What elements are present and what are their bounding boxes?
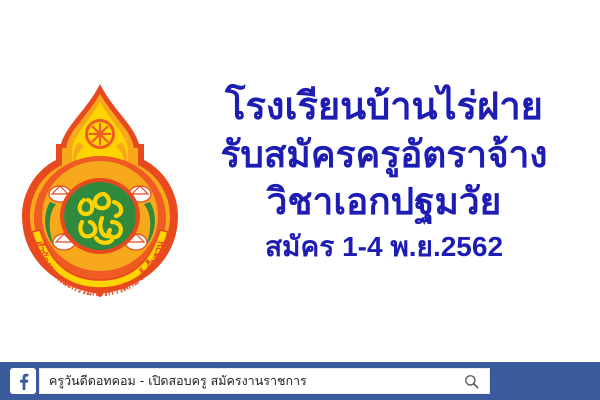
headline-block: โรงเรียนบ้านไร่ฝาย รับสมัครครูอัตราจ้าง …	[182, 84, 586, 265]
search-input[interactable]: ครูวันดีดอทคอม - เปิดสอบครู สมัครงานราชก…	[39, 368, 490, 394]
facebook-f-icon[interactable]	[10, 368, 36, 394]
emblem-dharma-wheel-hub	[97, 131, 104, 138]
obec-emblem: สำนักงานคณะกรรมการการศึกษาขั้นพื้นฐาน	[18, 82, 182, 298]
poster-canvas: สำนักงานคณะกรรมการการศึกษาขั้นพื้นฐาน โร…	[0, 0, 600, 362]
headline-line-4: สมัคร 1-4 พ.ย.2562	[182, 229, 586, 265]
headline-line-1: โรงเรียนบ้านไร่ฝาย	[182, 84, 586, 130]
obec-emblem-graphic: สำนักงานคณะกรรมการการศึกษาขั้นพื้นฐาน	[18, 82, 182, 298]
search-icon[interactable]	[464, 374, 479, 389]
headline-line-2: รับสมัครครูอัตราจ้าง	[182, 132, 586, 178]
headline-line-3: วิชาเอกปฐมวัย	[182, 179, 586, 225]
search-input-value: ครูวันดีดอทคอม - เปิดสอบครู สมัครงานราชก…	[49, 371, 307, 391]
poster-page: สำนักงานคณะกรรมการการศึกษาขั้นพื้นฐาน โร…	[0, 0, 600, 400]
facebook-search-widget[interactable]: ครูวันดีดอทคอม - เปิดสอบครู สมัครงานราชก…	[10, 368, 490, 394]
facebook-footer-bar: ครูวันดีดอทคอม - เปิดสอบครู สมัครงานราชก…	[0, 362, 600, 400]
